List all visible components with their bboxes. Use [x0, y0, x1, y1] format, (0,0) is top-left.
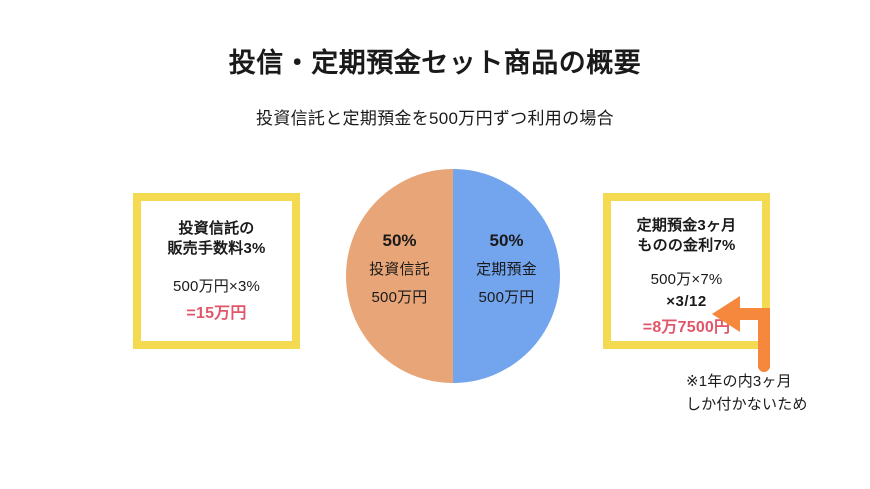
pie-percent-time-deposit: 50% — [453, 232, 560, 251]
pie-amount-investment-trust: 500万円 — [346, 290, 453, 307]
pie-name-investment-trust: 投資信託 — [346, 262, 453, 279]
pie-percent-investment-trust: 50% — [346, 232, 453, 251]
right-callout-heading: 定期預金3ヶ月 ものの金利7% — [611, 216, 762, 257]
left-callout-result: =15万円 — [141, 302, 292, 326]
pie-label-investment-trust: 50% 投資信託 500万円 — [346, 232, 453, 307]
left-callout-box: 投資信託の 販売手数料3% 500万円×3% =15万円 — [133, 193, 300, 349]
left-callout-heading: 投資信託の 販売手数料3% — [141, 219, 292, 260]
page-title: 投信・定期預金セット商品の概要 — [0, 41, 870, 80]
footnote: ※1年の内3ヶ月 しか付かないため — [686, 370, 866, 417]
right-callout-heading-line1: 定期預金3ヶ月 — [611, 216, 762, 236]
pie-name-time-deposit: 定期預金 — [453, 262, 560, 279]
right-callout-heading-line2: ものの金利7% — [611, 236, 762, 256]
pie-amount-time-deposit: 500万円 — [453, 290, 560, 307]
elbow-arrow-icon — [706, 282, 786, 374]
left-callout-heading-line1: 投資信託の — [141, 219, 292, 239]
footnote-line2: しか付かないため — [686, 393, 866, 416]
footnote-line1: ※1年の内3ヶ月 — [686, 370, 866, 393]
pie-chart: 50% 投資信託 500万円 50% 定期預金 500万円 — [346, 169, 560, 383]
left-callout-heading-line2: 販売手数料3% — [141, 239, 292, 259]
left-callout-calc: 500万円×3% — [141, 276, 292, 299]
pie-label-time-deposit: 50% 定期預金 500万円 — [453, 232, 560, 307]
page-subtitle: 投資信託と定期預金を500万円ずつ利用の場合 — [0, 104, 870, 129]
